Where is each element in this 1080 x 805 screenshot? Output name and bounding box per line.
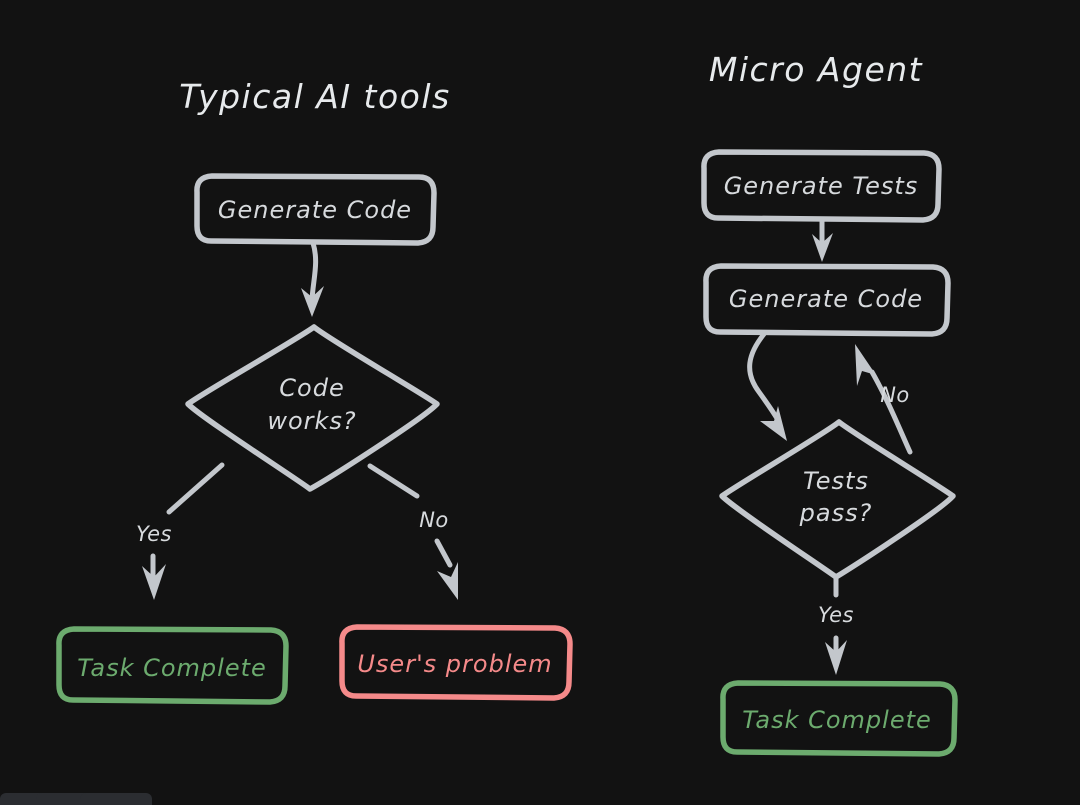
left-node-task-complete[interactable]: Task Complete xyxy=(58,628,286,702)
right-arrow-tests-to-code xyxy=(812,220,833,262)
right-flow-title: Micro Agent xyxy=(709,50,923,89)
right-node-generate-code-label: Generate Code xyxy=(729,285,923,313)
left-flow-group: Typical AI tools Generate Code Code work… xyxy=(58,77,570,702)
diagram-canvas: Typical AI tools Generate Code Code work… xyxy=(0,0,1080,805)
right-label-yes: Yes xyxy=(818,603,854,627)
right-label-no: No xyxy=(880,383,910,407)
bottom-tab-3[interactable] xyxy=(80,793,152,805)
left-node-generate-code[interactable]: Generate Code xyxy=(196,175,434,243)
right-decision-line2: pass? xyxy=(799,499,873,527)
left-node-users-problem[interactable]: User's problem xyxy=(341,626,570,698)
left-decision-code-works[interactable]: Code works? xyxy=(188,327,438,490)
left-node-users-problem-label: User's problem xyxy=(357,650,552,678)
left-arrow-code-to-decision xyxy=(301,243,324,317)
right-decision-tests-pass[interactable]: Tests pass? xyxy=(722,422,954,577)
right-decision-line1: Tests xyxy=(803,467,869,495)
right-arrow-code-to-decision xyxy=(750,334,787,441)
right-branch-yes: Yes xyxy=(818,577,854,675)
left-label-yes: Yes xyxy=(136,522,172,546)
left-label-no: No xyxy=(419,508,449,532)
right-node-generate-code[interactable]: Generate Code xyxy=(705,265,948,334)
left-branch-no: No xyxy=(370,466,458,600)
left-flow-title: Typical AI tools xyxy=(179,77,450,116)
left-decision-line2: works? xyxy=(267,407,356,435)
right-node-task-complete[interactable]: Task Complete xyxy=(722,682,955,754)
left-decision-line1: Code xyxy=(279,374,344,402)
left-node-generate-code-label: Generate Code xyxy=(218,196,412,224)
flowchart-diagram: Typical AI tools Generate Code Code work… xyxy=(0,0,1080,805)
right-node-generate-tests[interactable]: Generate Tests xyxy=(703,151,939,220)
right-node-task-complete-label: Task Complete xyxy=(742,706,932,734)
right-flow-group: Micro Agent Generate Tests Generate Code xyxy=(703,50,955,754)
left-node-task-complete-label: Task Complete xyxy=(77,654,267,682)
right-node-generate-tests-label: Generate Tests xyxy=(724,172,919,200)
left-branch-yes: Yes xyxy=(136,465,222,600)
